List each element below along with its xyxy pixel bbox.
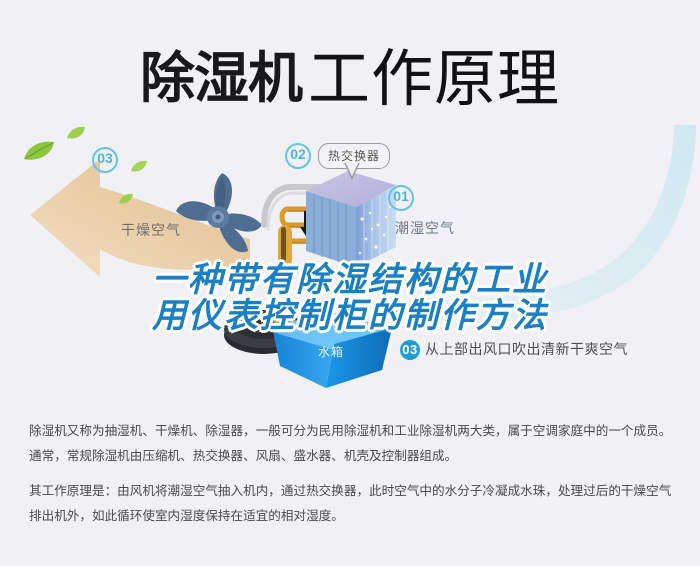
poster-root: 除湿机工作原理 xyxy=(0,0,700,566)
note-03-text: 从上部出风口吹出清新干爽空气 xyxy=(425,342,628,358)
body-copy: 除湿机又称为抽湿机、干燥机、除湿器，一般可分为民用除湿机和工业除湿机两大类，属于… xyxy=(29,420,674,530)
paragraph-2-line-2: 排出机外，如此循环使室内湿度保持在适宜的相对湿度。 xyxy=(29,505,674,526)
page-title: 除湿机工作原理 xyxy=(0,28,700,118)
note-02: 成水珠 xyxy=(392,302,436,322)
step-01-badge: 01 xyxy=(388,185,414,211)
note-03: 03从上部出风口吹出清新干爽空气 xyxy=(400,339,628,360)
leaf-icon xyxy=(66,126,86,141)
heat-exchanger-icon xyxy=(298,163,403,278)
step-03-label: 干燥空气 xyxy=(121,220,181,240)
step-01-label: 潮湿空气 xyxy=(395,218,455,238)
note-03-badge: 03 xyxy=(400,340,420,360)
note-02-text: 成水珠 xyxy=(392,305,436,321)
leaf-icon xyxy=(130,160,148,174)
paragraph-1-line-1: 除湿机又称为抽湿机、干燥机、除湿器，一般可分为民用除湿机和工业除湿机两大类，属于… xyxy=(29,420,674,441)
dehumidifier-diagram: 03 干燥空气 02 热交换器 01 潮湿空气 水箱 成水珠 03从上部出风口吹… xyxy=(0,125,700,395)
step-03-badge: 03 xyxy=(92,147,118,173)
paragraph-1-line-2: 通常，常规除湿机由压缩机、热交换器、风扇、盛水器、机壳及控制器组成。 xyxy=(29,445,674,466)
page-title-bold: 除湿机 xyxy=(140,46,302,110)
leaf-icon xyxy=(118,193,134,206)
paragraph-2-line-1: 其工作原理是：由风机将潮湿空气抽入机内，通过热交换器，此时空气中的水分子冷凝成水… xyxy=(29,480,674,501)
leaf-icon xyxy=(22,139,56,163)
bubble-tail-icon xyxy=(344,163,360,179)
page-title-light: 工作原理 xyxy=(308,45,560,114)
fan-icon xyxy=(168,167,268,267)
step-02-badge: 02 xyxy=(285,143,311,169)
water-tank-label: 水箱 xyxy=(318,343,344,360)
